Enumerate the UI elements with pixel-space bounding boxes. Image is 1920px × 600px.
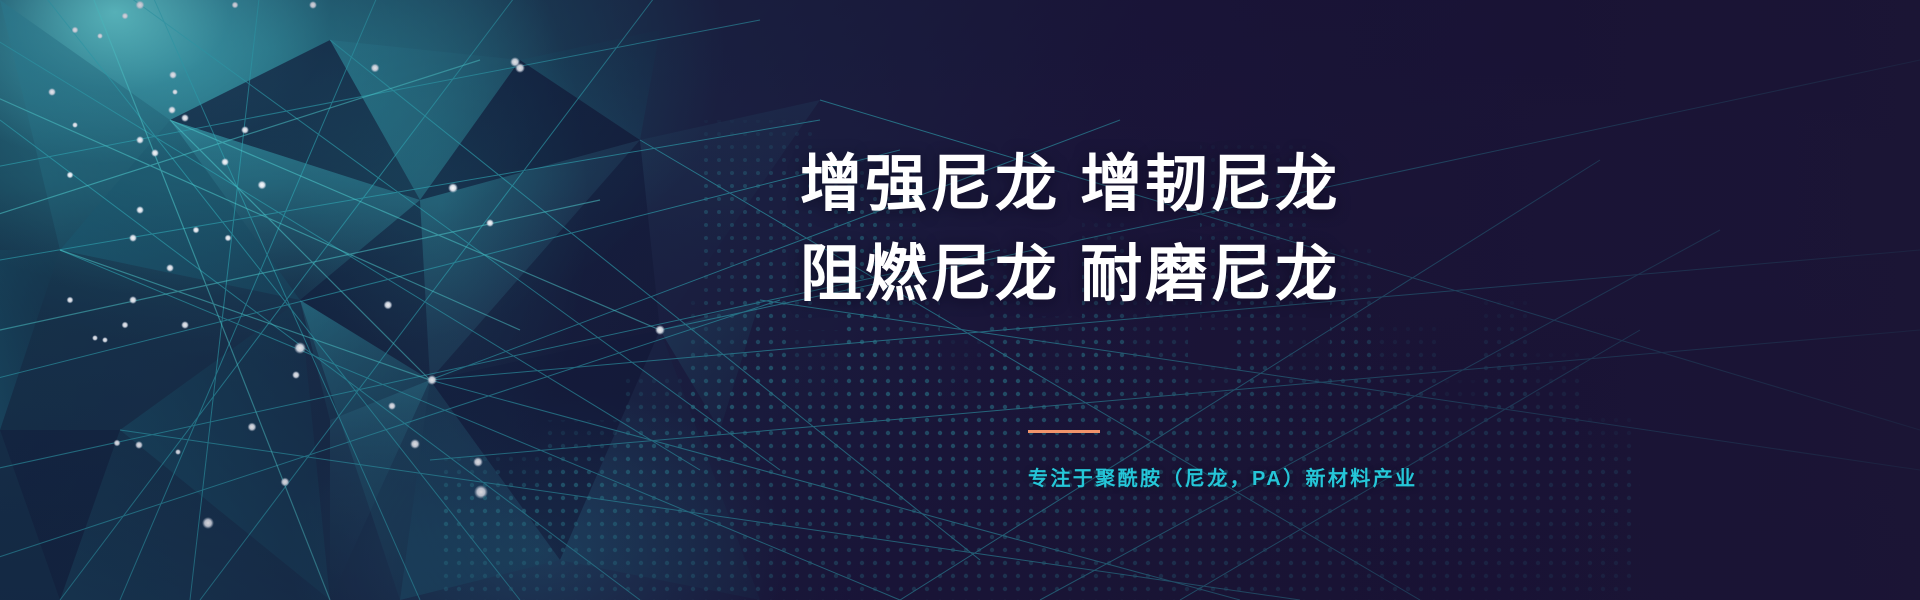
hero-banner: 增强尼龙 增韧尼龙 阻燃尼龙 耐磨尼龙 专注于聚酰胺（尼龙，PA）新材料产业	[0, 0, 1920, 600]
headline-line-1: 增强尼龙 增韧尼龙	[800, 140, 1640, 230]
banner-subtitle: 专注于聚酰胺（尼龙，PA）新材料产业	[1028, 462, 1640, 491]
divider-row	[800, 430, 1640, 433]
subtitle-row: 专注于聚酰胺（尼龙，PA）新材料产业	[800, 462, 1640, 491]
headline-line-2: 阻燃尼龙 耐磨尼龙	[800, 230, 1640, 320]
headline-block: 增强尼龙 增韧尼龙 阻燃尼龙 耐磨尼龙	[800, 140, 1640, 320]
accent-divider	[1028, 430, 1100, 433]
banner-content: 增强尼龙 增韧尼龙 阻燃尼龙 耐磨尼龙 专注于聚酰胺（尼龙，PA）新材料产业	[0, 0, 1920, 600]
